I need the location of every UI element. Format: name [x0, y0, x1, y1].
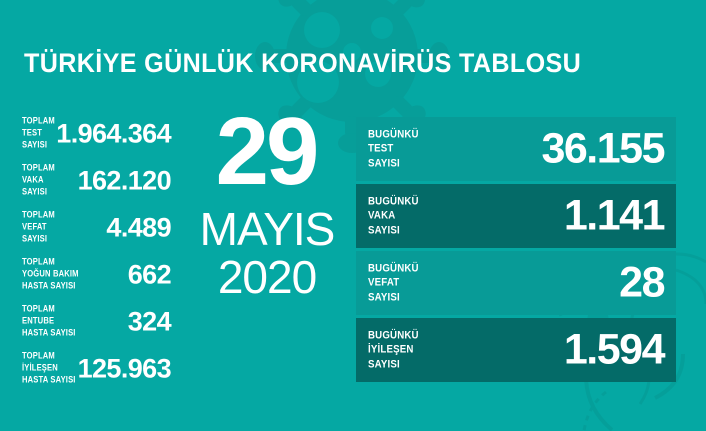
total-value-intensive-care: 662 — [128, 261, 171, 288]
total-label-test: TOPLAM TEST SAYISI — [22, 115, 55, 152]
daily-panel-deaths: BUGÜNKÜ VEFAT SAYISI 28 — [356, 251, 676, 315]
total-row-intubated: TOPLAM ENTUBE HASTA SAYISI 324 — [0, 298, 185, 345]
total-value-test: 1.964.364 — [56, 120, 171, 147]
cumulative-totals-column: TOPLAM TEST SAYISI 1.964.364 TOPLAM VAKA… — [0, 110, 185, 392]
daily-stats-column: BUGÜNKÜ TEST SAYISI 36.155 BUGÜNKÜ VAKA … — [356, 117, 676, 385]
daily-label-recovered: BUGÜNKÜ İYİLEŞEN SAYISI — [368, 329, 419, 372]
total-row-cases: TOPLAM VAKA SAYISI 162.120 — [0, 157, 185, 204]
date-month: MAYIS — [186, 206, 348, 252]
daily-panel-recovered: BUGÜNKÜ İYİLEŞEN SAYISI 1.594 — [356, 318, 676, 382]
daily-label-deaths: BUGÜNKÜ VEFAT SAYISI — [368, 262, 419, 305]
total-value-intubated: 324 — [128, 308, 171, 335]
total-value-recovered: 125.963 — [78, 355, 171, 382]
daily-label-cases: BUGÜNKÜ VAKA SAYISI — [368, 195, 419, 238]
total-value-cases: 162.120 — [78, 167, 171, 194]
total-row-deaths: TOPLAM VEFAT SAYISI 4.489 — [0, 204, 185, 251]
total-label-cases: TOPLAM VAKA SAYISI — [22, 162, 55, 199]
coronavirus-daily-table-board: TÜRKİYE GÜNLÜK KORONAVİRÜS TABLOSU TOPLA… — [0, 0, 706, 431]
total-label-deaths: TOPLAM VEFAT SAYISI — [22, 209, 55, 246]
daily-value-deaths: 28 — [619, 262, 664, 305]
page-title: TÜRKİYE GÜNLÜK KORONAVİRÜS TABLOSU — [24, 50, 581, 77]
date-day: 29 — [184, 104, 348, 200]
date-year: 2020 — [186, 254, 348, 300]
daily-label-test: BUGÜNKÜ TEST SAYISI — [368, 128, 419, 171]
total-value-deaths: 4.489 — [106, 214, 171, 241]
daily-value-test: 36.155 — [541, 128, 664, 171]
total-row-intensive-care: TOPLAM YOĞUN BAKIM HASTA SAYISI 662 — [0, 251, 185, 298]
daily-panel-test: BUGÜNKÜ TEST SAYISI 36.155 — [356, 117, 676, 181]
total-row-test: TOPLAM TEST SAYISI 1.964.364 — [0, 110, 185, 157]
total-label-intubated: TOPLAM ENTUBE HASTA SAYISI — [22, 303, 76, 340]
total-label-intensive-care: TOPLAM YOĞUN BAKIM HASTA SAYISI — [22, 256, 79, 293]
daily-panel-cases: BUGÜNKÜ VAKA SAYISI 1.141 — [356, 184, 676, 248]
date-block: 29 MAYIS 2020 — [186, 104, 348, 300]
total-label-recovered: TOPLAM İYİLEŞEN HASTA SAYISI — [22, 350, 76, 387]
daily-value-cases: 1.141 — [564, 195, 664, 238]
daily-value-recovered: 1.594 — [564, 329, 664, 372]
total-row-recovered: TOPLAM İYİLEŞEN HASTA SAYISI 125.963 — [0, 345, 185, 392]
